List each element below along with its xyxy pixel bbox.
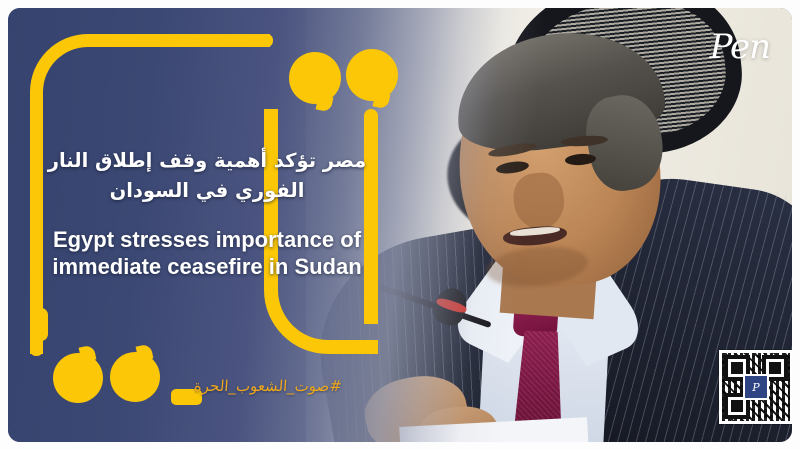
qr-center-logo: P	[743, 374, 769, 400]
frame-top-bar-cap	[260, 34, 273, 47]
quote-mark-icon	[346, 49, 398, 101]
qr-code-pattern: P	[722, 353, 790, 421]
quote-mark-icon	[110, 352, 160, 402]
news-poster: مصر تؤكد أهمية وقف إطلاق النار الفوري في…	[0, 0, 800, 450]
headline-arabic: مصر تؤكد أهمية وقف إطلاق النار الفوري في…	[32, 146, 382, 206]
hashtag: #صوت_الشعوب_الحرة	[193, 377, 342, 395]
quote-mark-icon	[289, 52, 341, 104]
qr-code[interactable]: P	[719, 350, 792, 424]
headline-english: Egypt stresses importance of immediate c…	[32, 226, 382, 281]
brand-watermark: Pen	[710, 30, 770, 64]
quote-mark-icon	[53, 353, 103, 403]
poster-card: مصر تؤكد أهمية وقف إطلاق النار الفوري في…	[8, 8, 792, 442]
frame-vertical-bar-left	[34, 308, 48, 341]
frame-vertical-bar-right	[364, 109, 378, 324]
